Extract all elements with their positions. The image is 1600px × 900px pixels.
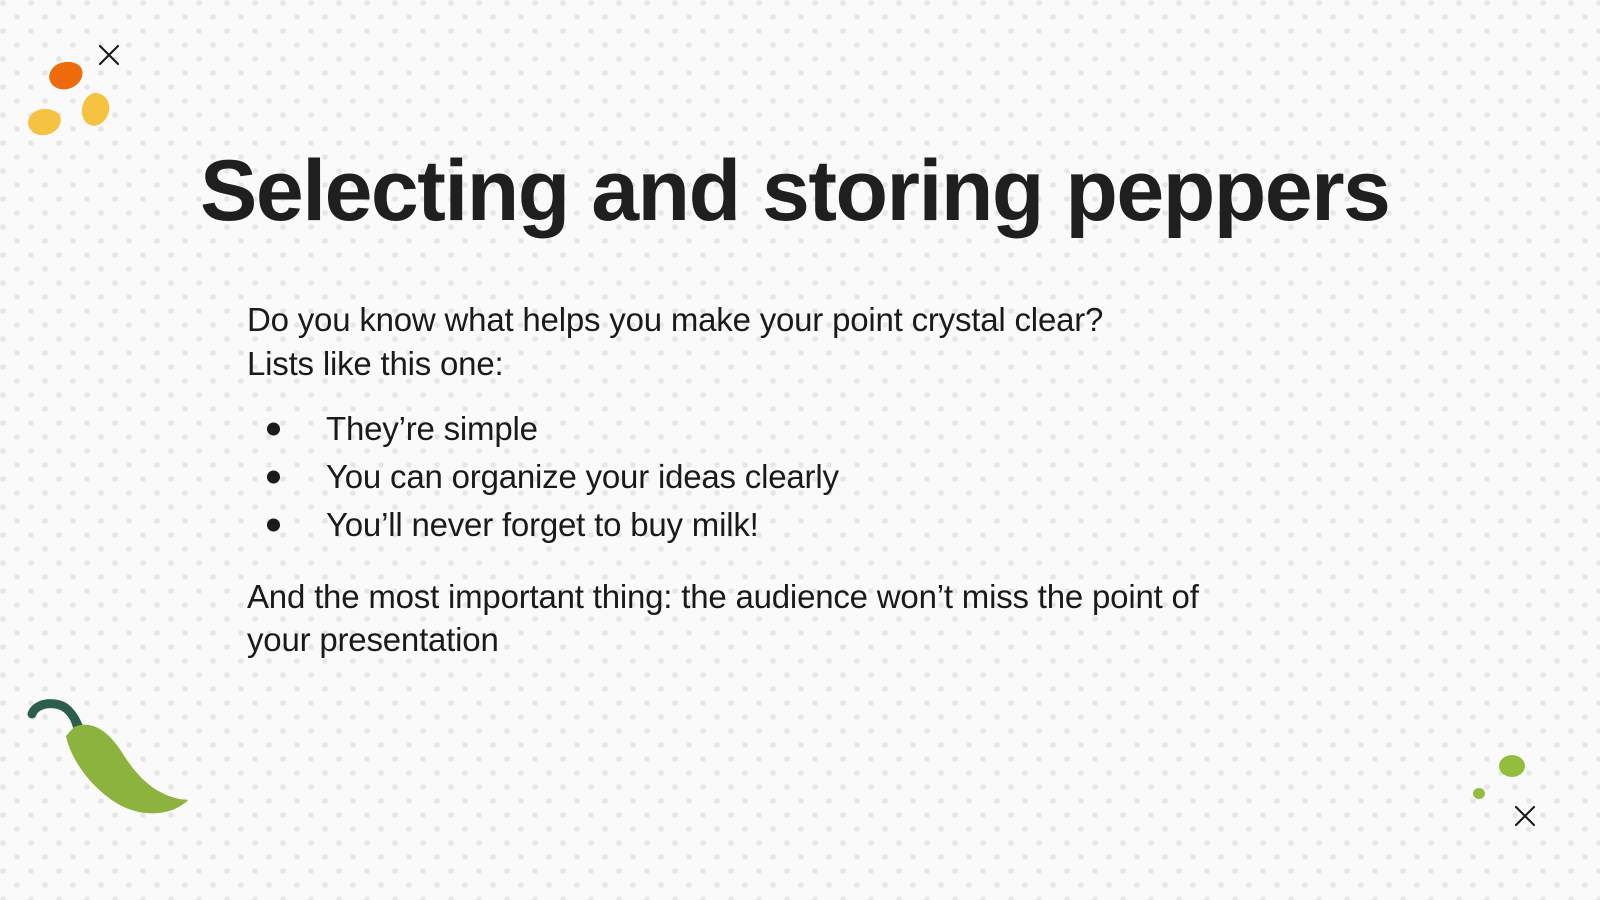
bullet-dot-icon: [267, 423, 280, 436]
x-mark-top-left-icon: [98, 44, 120, 66]
bullet-dot-icon: [267, 470, 280, 483]
closing-paragraph: And the most important thing: the audien…: [247, 575, 1257, 662]
presentation-slide: Selecting and storing peppers Do you kno…: [0, 0, 1600, 900]
lead-paragraph: Do you know what helps you make your poi…: [247, 298, 1307, 385]
x-mark-bottom-right-icon: [1514, 805, 1536, 827]
list-item: They’re simple: [247, 407, 1307, 451]
bullet-dot-icon: [267, 518, 280, 531]
green-chili-pepper-icon: [22, 694, 202, 824]
list-item-label: You can organize your ideas clearly: [326, 458, 839, 495]
slide-title: Selecting and storing peppers: [200, 146, 1460, 236]
list-item: You can organize your ideas clearly: [247, 455, 1307, 499]
yellow-blob-left-icon: [26, 106, 63, 137]
green-dot-large-icon: [1499, 755, 1525, 777]
list-item-label: They’re simple: [326, 410, 538, 447]
yellow-blob-right-icon: [79, 91, 112, 129]
slide-body: Do you know what helps you make your poi…: [247, 298, 1307, 662]
green-dot-small-icon: [1473, 788, 1485, 799]
bullet-list: They’re simple You can organize your ide…: [247, 407, 1307, 547]
list-item: You’ll never forget to buy milk!: [247, 503, 1307, 547]
orange-blob-icon: [46, 58, 86, 93]
list-item-label: You’ll never forget to buy milk!: [326, 506, 759, 543]
